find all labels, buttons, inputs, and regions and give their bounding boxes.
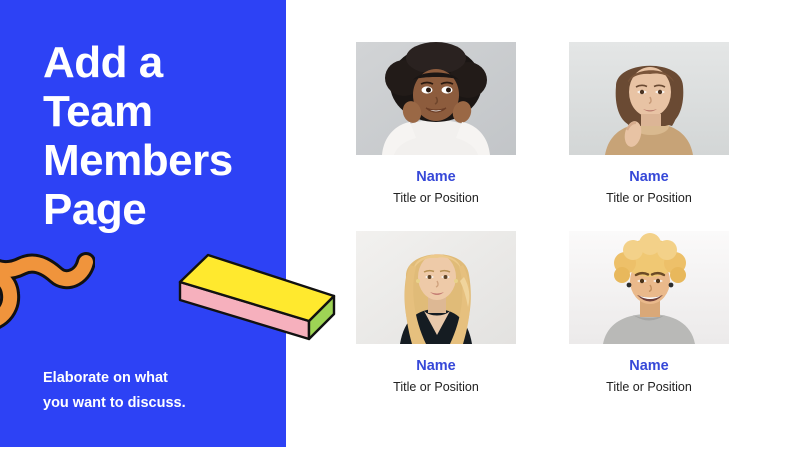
member-name: Name [569,358,729,374]
team-member-card[interactable]: Name Title or Position [569,231,729,394]
member-title: Title or Position [569,191,729,205]
team-members-grid: Name Title or Position [356,42,732,394]
member-photo [569,231,729,344]
slide-canvas: Add a Team Members Page Elaborate on wha… [0,0,800,450]
member-name: Name [356,169,516,185]
page-subtitle: Elaborate on what you want to discuss. [43,366,263,416]
member-photo [356,42,516,155]
member-photo [569,42,729,155]
member-name: Name [356,358,516,374]
member-title: Title or Position [356,191,516,205]
team-member-card[interactable]: Name Title or Position [356,42,516,205]
left-blue-panel: Add a Team Members Page Elaborate on wha… [0,0,286,447]
member-title: Title or Position [356,380,516,394]
team-member-card[interactable]: Name Title or Position [356,231,516,394]
team-member-card[interactable]: Name Title or Position [569,42,729,205]
member-title: Title or Position [569,380,729,394]
member-photo [356,231,516,344]
member-name: Name [569,169,729,185]
page-title: Add a Team Members Page [43,38,273,234]
